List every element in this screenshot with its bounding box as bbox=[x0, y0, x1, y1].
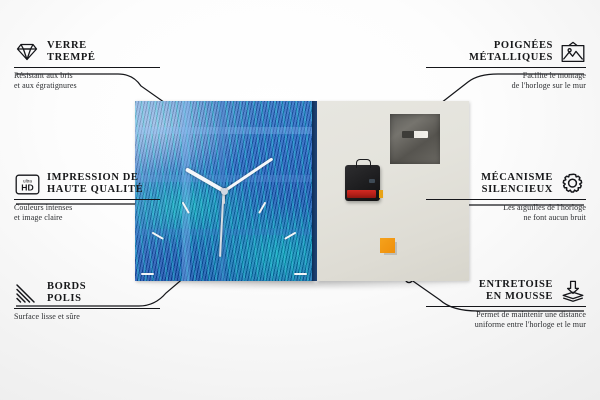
callout-subtitle: Les aiguilles de l'horloge ne font aucun… bbox=[426, 200, 586, 224]
callout-bords-polis: BORDS POLIS Surface lisse et sûre bbox=[14, 281, 174, 322]
arrow-down-layers-icon bbox=[560, 279, 586, 303]
diamond-icon bbox=[14, 40, 40, 64]
callout-header: ultra HD IMPRESSION DE HAUTE QUALITÉ bbox=[14, 172, 174, 199]
callout-header: VERRE TREMPÉ bbox=[14, 40, 174, 67]
clock-tick bbox=[294, 273, 307, 275]
callout-subtitle: Surface lisse et sûre bbox=[14, 309, 174, 322]
callout-title: ENTRETOISE EN MOUSSE bbox=[479, 279, 553, 303]
callout-header: BORDS POLIS bbox=[14, 281, 174, 308]
callout-title: POIGNÉES MÉTALLIQUES bbox=[469, 40, 553, 64]
callout-header: ENTRETOISE EN MOUSSE bbox=[426, 279, 586, 306]
callout-title: VERRE TREMPÉ bbox=[47, 40, 96, 64]
battery-terminal bbox=[379, 190, 383, 198]
callout-title: BORDS POLIS bbox=[47, 281, 86, 305]
metal-hanger-plate bbox=[390, 114, 440, 164]
hanger-slot bbox=[402, 131, 428, 138]
callout-subtitle: Résistant aux bris et aux égratignures bbox=[14, 68, 174, 92]
foam-spacer bbox=[380, 238, 395, 253]
clock-tick bbox=[141, 273, 154, 275]
callout-subtitle: Permet de maintenir une distance uniform… bbox=[426, 307, 586, 331]
wall-clock-product-image bbox=[135, 101, 469, 281]
callout-mecanisme-silencieux: MÉCANISME SILENCIEUX Les aiguilles de l'… bbox=[426, 172, 586, 224]
callout-impression-haute-qualite: ultra HD IMPRESSION DE HAUTE QUALITÉ Cou… bbox=[14, 172, 174, 224]
callout-header: MÉCANISME SILENCIEUX bbox=[426, 172, 586, 199]
picture-frame-hanger-icon bbox=[560, 40, 586, 64]
callout-subtitle: Couleurs intenses et image claire bbox=[14, 200, 174, 224]
callout-verre-trempe: VERRE TREMPÉ Résistant aux bris et aux é… bbox=[14, 40, 174, 92]
callout-header: POIGNÉES MÉTALLIQUES bbox=[426, 40, 586, 67]
battery bbox=[347, 190, 376, 198]
gear-icon bbox=[560, 172, 586, 196]
clock-hand-cap bbox=[221, 188, 228, 195]
clock-movement bbox=[345, 165, 380, 201]
callout-subtitle: Facilite le montage de l'horloge sur le … bbox=[426, 68, 586, 92]
polished-edge-icon bbox=[14, 281, 40, 305]
callout-poignees-metalliques: POIGNÉES MÉTALLIQUES Facilite le montage… bbox=[426, 40, 586, 92]
product-feature-infographic: VERRE TREMPÉ Résistant aux bris et aux é… bbox=[0, 0, 600, 400]
movement-label bbox=[369, 179, 375, 183]
movement-hanging-loop bbox=[356, 159, 371, 168]
callout-title: MÉCANISME SILENCIEUX bbox=[481, 172, 553, 196]
callout-entretoise-en-mousse: ENTRETOISE EN MOUSSE Permet de maintenir… bbox=[426, 279, 586, 331]
ultra-hd-icon: ultra HD bbox=[14, 172, 40, 196]
svg-text:HD: HD bbox=[21, 182, 33, 192]
callout-title: IMPRESSION DE HAUTE QUALITÉ bbox=[47, 172, 143, 196]
